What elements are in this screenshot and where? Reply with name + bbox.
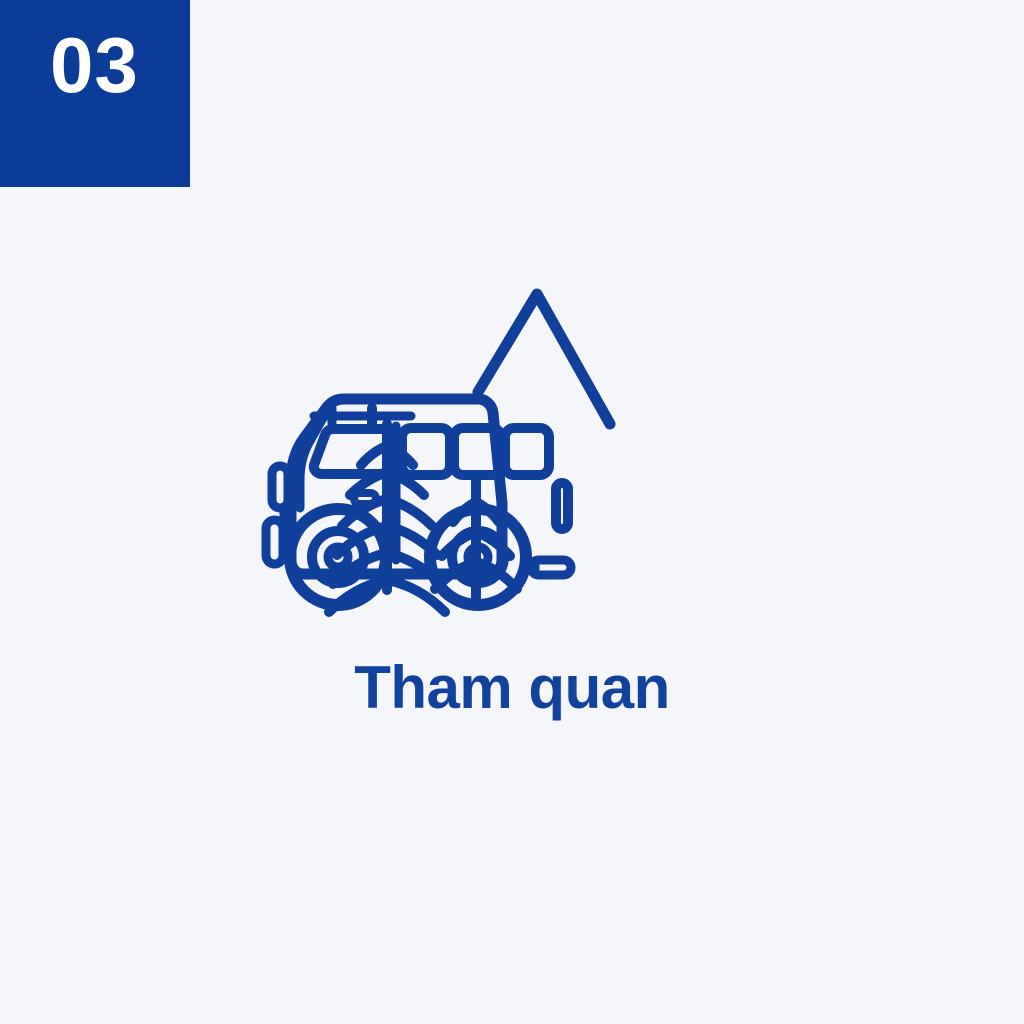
caption-text: Tham quan <box>354 655 670 721</box>
step-number-text: 03 <box>50 26 139 104</box>
illustration-card: 03 <box>0 0 1024 1024</box>
camper-van-icon <box>266 399 571 605</box>
mountain-peak-icon <box>478 294 610 424</box>
caption: Tham quan <box>0 655 1024 721</box>
camper-van-scene-graphic <box>248 268 788 618</box>
step-number-badge: 03 <box>0 0 190 187</box>
illustration <box>248 268 788 618</box>
